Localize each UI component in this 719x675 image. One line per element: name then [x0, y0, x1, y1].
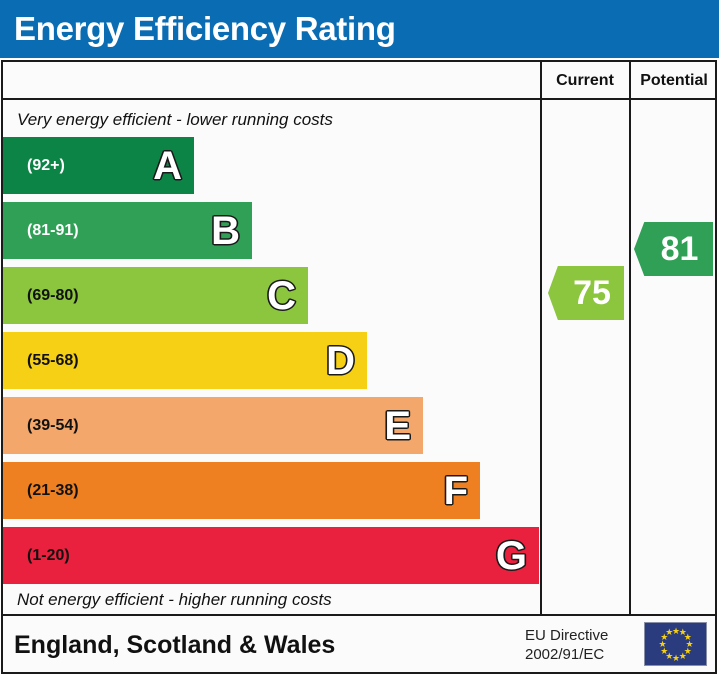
rating-band-a: (92+)A: [3, 137, 194, 194]
band-range-label: (69-80): [27, 287, 79, 305]
band-letter-label: G: [496, 535, 527, 577]
column-header-potential: Potential: [631, 70, 717, 92]
band-letter-label: C: [267, 275, 296, 317]
rating-band-e: (39-54)E: [3, 397, 423, 454]
potential-rating-marker: 81: [634, 222, 713, 276]
band-letter-label: D: [326, 340, 355, 382]
band-range-label: (21-38): [27, 482, 79, 500]
rating-band-b: (81-91)B: [3, 202, 252, 259]
rating-band-f: (21-38)F: [3, 462, 480, 519]
rating-band-c: (69-80)C: [3, 267, 308, 324]
footer-directive-line2: 2002/91/EC: [525, 645, 635, 664]
footer-region-label: England, Scotland & Wales: [14, 630, 335, 660]
band-letter-label: E: [384, 405, 411, 447]
current-rating-marker-value: 75: [548, 266, 624, 320]
column-header-current: Current: [541, 70, 629, 92]
band-range-label: (39-54): [27, 417, 79, 435]
column-divider-current: [540, 60, 542, 616]
page-title: Energy Efficiency Rating: [14, 9, 396, 49]
rating-band-g: (1-20)G: [3, 527, 539, 584]
band-range-label: (1-20): [27, 547, 70, 565]
footer-directive-line1: EU Directive: [525, 626, 635, 645]
column-divider-potential: [629, 60, 631, 616]
band-range-label: (92+): [27, 157, 65, 175]
chart-title-bar: Energy Efficiency Rating: [0, 0, 719, 58]
caption-bottom: Not energy efficient - higher running co…: [17, 589, 332, 611]
band-letter-label: A: [153, 145, 182, 187]
current-rating-marker: 75: [548, 266, 624, 320]
caption-top: Very energy efficient - lower running co…: [17, 109, 333, 131]
band-range-label: (55-68): [27, 352, 79, 370]
eu-flag-star: ★: [665, 628, 673, 636]
band-range-label: (81-91): [27, 222, 79, 240]
potential-rating-marker-value: 81: [634, 222, 713, 276]
energy-efficiency-rating-chart: Energy Efficiency Rating Current Potenti…: [0, 0, 719, 675]
rating-band-d: (55-68)D: [3, 332, 367, 389]
eu-flag-icon: ★★★★★★★★★★★★: [644, 622, 707, 666]
band-letter-label: F: [444, 470, 468, 512]
band-letter-label: B: [211, 210, 240, 252]
footer-directive: EU Directive 2002/91/EC: [525, 626, 635, 664]
